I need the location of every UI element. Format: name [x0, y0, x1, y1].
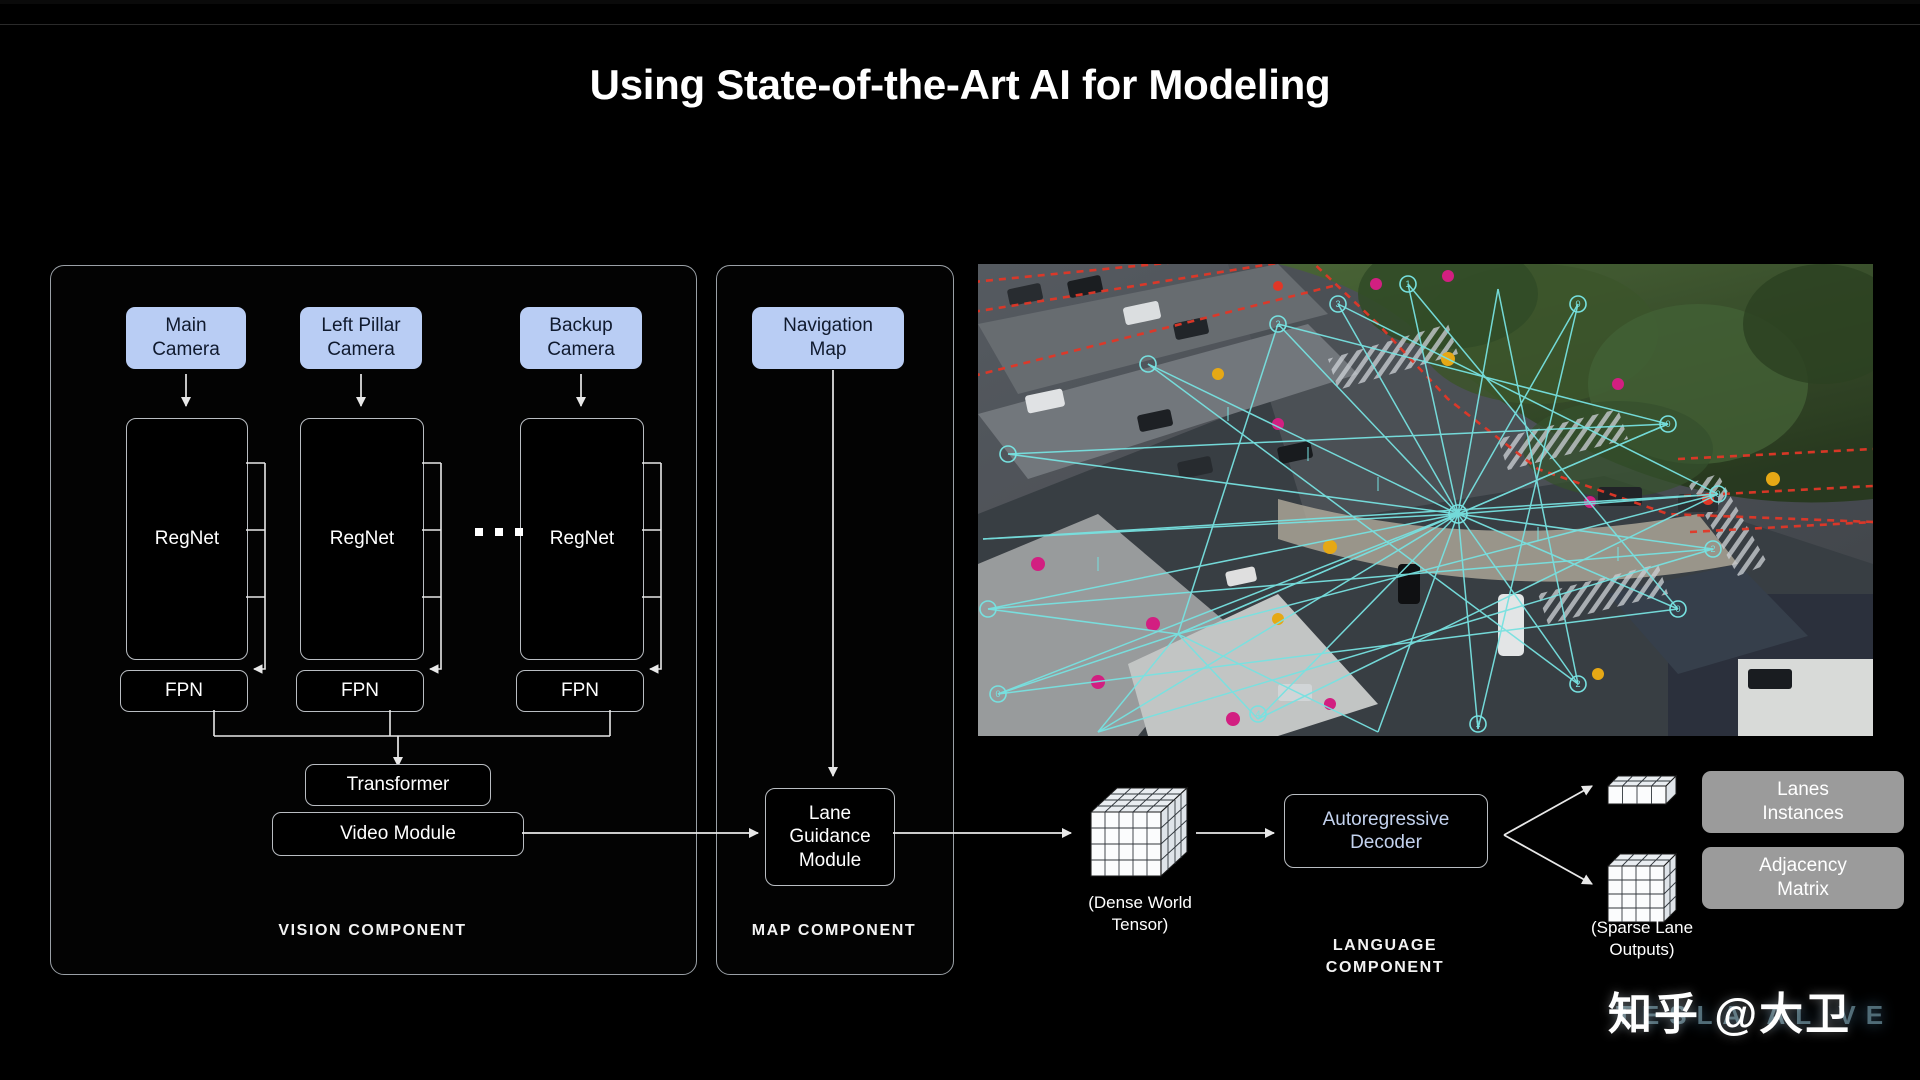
neck-box-fpn-1[interactable]: FPN	[120, 670, 248, 712]
dense-world-tensor-cube-icon	[1083, 780, 1195, 884]
top-hairline	[0, 24, 1920, 25]
sparse-lane-outputs-caption: (Sparse Lane Outputs)	[1572, 917, 1712, 961]
camera-chip-main[interactable]: Main Camera	[126, 307, 246, 369]
lane-guidance-module-box[interactable]: Lane Guidance Module	[765, 788, 895, 886]
video-module-box[interactable]: Video Module	[272, 812, 524, 856]
camera-chip-backup[interactable]: Backup Camera	[520, 307, 642, 369]
output-chip-adjacency-matrix[interactable]: Adjacency Matrix	[1702, 847, 1904, 909]
tensor-to-decoder-arrow	[1196, 818, 1286, 848]
camera-chip-left-pillar[interactable]: Left Pillar Camera	[300, 307, 422, 369]
lane-guidance-to-tensor-arrow	[893, 818, 1083, 848]
neck-box-fpn-3[interactable]: FPN	[516, 670, 644, 712]
neck-box-fpn-2[interactable]: FPN	[296, 670, 424, 712]
adjacency-matrix-cube-icon	[1604, 848, 1680, 926]
map-component-label: MAP COMPONENT	[716, 920, 952, 942]
slide-canvas: Using State-of-the-Art AI for Modeling V…	[0, 0, 1920, 1080]
transformer-box[interactable]: Transformer	[305, 764, 491, 806]
language-component-label: LANGUAGE COMPONENT	[1285, 935, 1485, 978]
skip-connection-bracket-2	[416, 455, 486, 700]
vision-component-label: VISION COMPONENT	[50, 920, 695, 942]
decoder-branch-arrows	[1496, 780, 1611, 890]
skip-connection-bracket-3	[636, 455, 706, 700]
navmap-to-lane-guidance-arrow	[820, 370, 850, 790]
backbone-box-regnet-2[interactable]: RegNet	[300, 418, 424, 660]
backbone-box-regnet-3[interactable]: RegNet	[520, 418, 644, 660]
aerial-scene-svg: 23 10 00 20 21 40	[978, 264, 1873, 736]
aerial-lane-graph-image: 23 10 00 20 21 40	[978, 264, 1873, 736]
page-title: Using State-of-the-Art AI for Modeling	[0, 62, 1920, 108]
navigation-map-chip[interactable]: Navigation Map	[752, 307, 904, 369]
autoregressive-decoder-box[interactable]: Autoregressive Decoder	[1284, 794, 1488, 868]
backbone-box-regnet-1[interactable]: RegNet	[126, 418, 248, 660]
top-edge-band	[0, 0, 1920, 4]
output-chip-lanes-instances[interactable]: Lanes Instances	[1702, 771, 1904, 833]
skip-connection-bracket-1	[240, 455, 310, 700]
watermark-text: 知乎 @大卫	[1608, 978, 1851, 1042]
dense-world-tensor-caption: (Dense World Tensor)	[1060, 892, 1220, 936]
video-to-lane-guidance-arrow	[522, 818, 770, 848]
camera-to-backbone-arrows	[120, 372, 660, 418]
lane-instances-row-icon	[1604, 772, 1680, 808]
